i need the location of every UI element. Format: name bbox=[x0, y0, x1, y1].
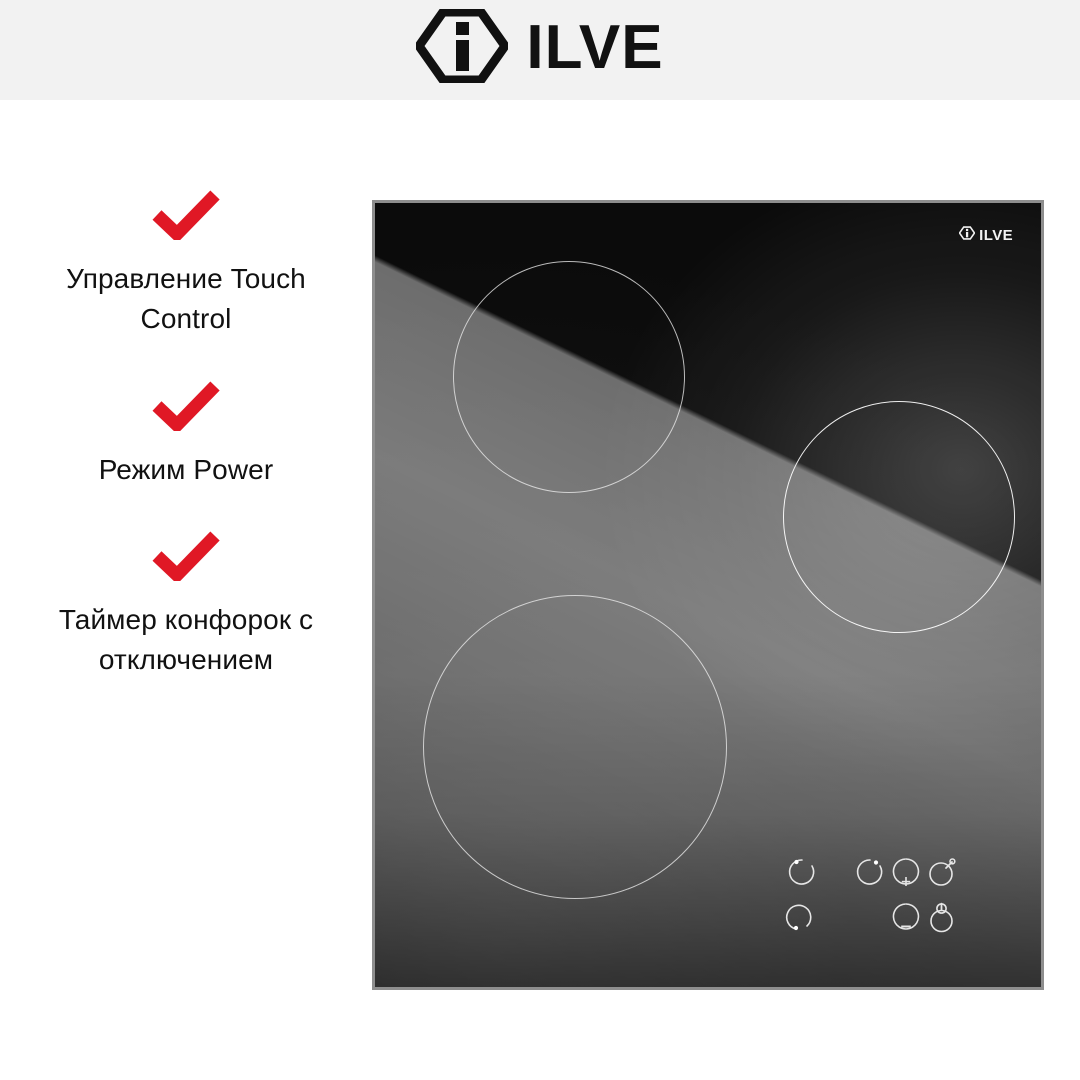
minus-key[interactable] bbox=[889, 901, 923, 935]
brand-lockup: ILVE bbox=[416, 9, 663, 88]
touch-control-panel bbox=[785, 855, 985, 947]
circle-plus-icon bbox=[889, 855, 923, 889]
header-bar: ILVE bbox=[0, 0, 1080, 100]
timer-decrease-key[interactable] bbox=[785, 901, 819, 935]
cooktop-ilve-badge: ILVE bbox=[959, 225, 1013, 246]
feature-list: Управление Touch Control Режим Power Тай… bbox=[0, 190, 372, 680]
red-checkmark-icon bbox=[16, 190, 356, 245]
brand-wordmark: ILVE bbox=[526, 17, 663, 79]
top-left-cooking-zone bbox=[453, 261, 685, 493]
ilve-hexagon-i-logo-icon bbox=[959, 225, 975, 246]
feature-item: Режим Power bbox=[16, 381, 356, 490]
bottom-left-cooking-zone bbox=[423, 595, 727, 899]
cooktop-badge-label: ILVE bbox=[979, 228, 1013, 243]
plus-key[interactable] bbox=[889, 855, 923, 889]
child-lock-key[interactable] bbox=[925, 855, 959, 889]
feature-item: Управление Touch Control bbox=[16, 190, 356, 339]
red-checkmark-icon bbox=[16, 531, 356, 586]
power-key[interactable] bbox=[925, 901, 959, 935]
circle-key-lock-icon bbox=[925, 855, 959, 889]
cooktop-glass-surface: ILVE bbox=[372, 200, 1044, 990]
circle-minus-icon bbox=[889, 901, 923, 935]
timer-increase-key[interactable] bbox=[785, 855, 819, 889]
circle-arc-dot-icon bbox=[853, 855, 887, 889]
circle-arc-dot-top-icon bbox=[785, 855, 819, 889]
ilve-hexagon-i-logo-icon bbox=[416, 9, 508, 88]
product-image: ILVE bbox=[372, 200, 1044, 990]
zone-select-key[interactable] bbox=[853, 855, 887, 889]
right-cooking-zone bbox=[783, 401, 1015, 633]
circle-arc-dot-bottom-icon bbox=[785, 901, 819, 935]
feature-item: Таймер конфорок с отключением bbox=[16, 531, 356, 680]
feature-label: Режим Power bbox=[16, 450, 356, 490]
feature-label: Управление Touch Control bbox=[16, 259, 356, 339]
red-checkmark-icon bbox=[16, 381, 356, 436]
power-icon bbox=[925, 901, 959, 935]
feature-label: Таймер конфорок с отключением bbox=[16, 600, 356, 680]
